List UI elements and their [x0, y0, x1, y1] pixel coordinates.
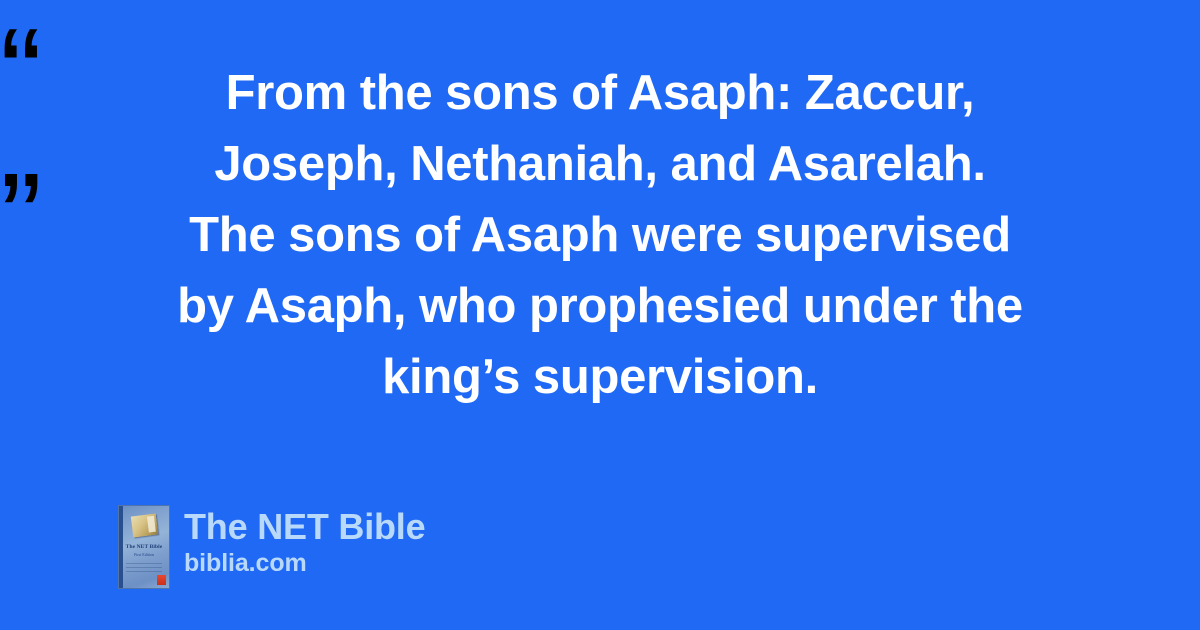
book-cover-subtitle: First Edition: [119, 552, 169, 557]
quote-card: “ From the sons of Asaph: Zaccur, Joseph…: [0, 0, 1200, 630]
source-url[interactable]: biblia.com: [184, 548, 425, 578]
quote-text: From the sons of Asaph: Zaccur, Joseph, …: [60, 58, 1140, 413]
attribution-text: The NET Bible biblia.com: [184, 505, 425, 578]
attribution[interactable]: The NET Bible First Edition The NET Bibl…: [118, 505, 425, 589]
publisher-logo-icon: [157, 575, 166, 585]
book-emblem-page: [147, 516, 156, 533]
book-cover-thumbnail: The NET Bible First Edition: [118, 505, 170, 589]
source-title: The NET Bible: [184, 506, 425, 548]
book-cover-title: The NET Bible: [119, 544, 169, 551]
book-cover-blurb-lines: [126, 563, 162, 575]
book-emblem-icon: [131, 514, 158, 538]
